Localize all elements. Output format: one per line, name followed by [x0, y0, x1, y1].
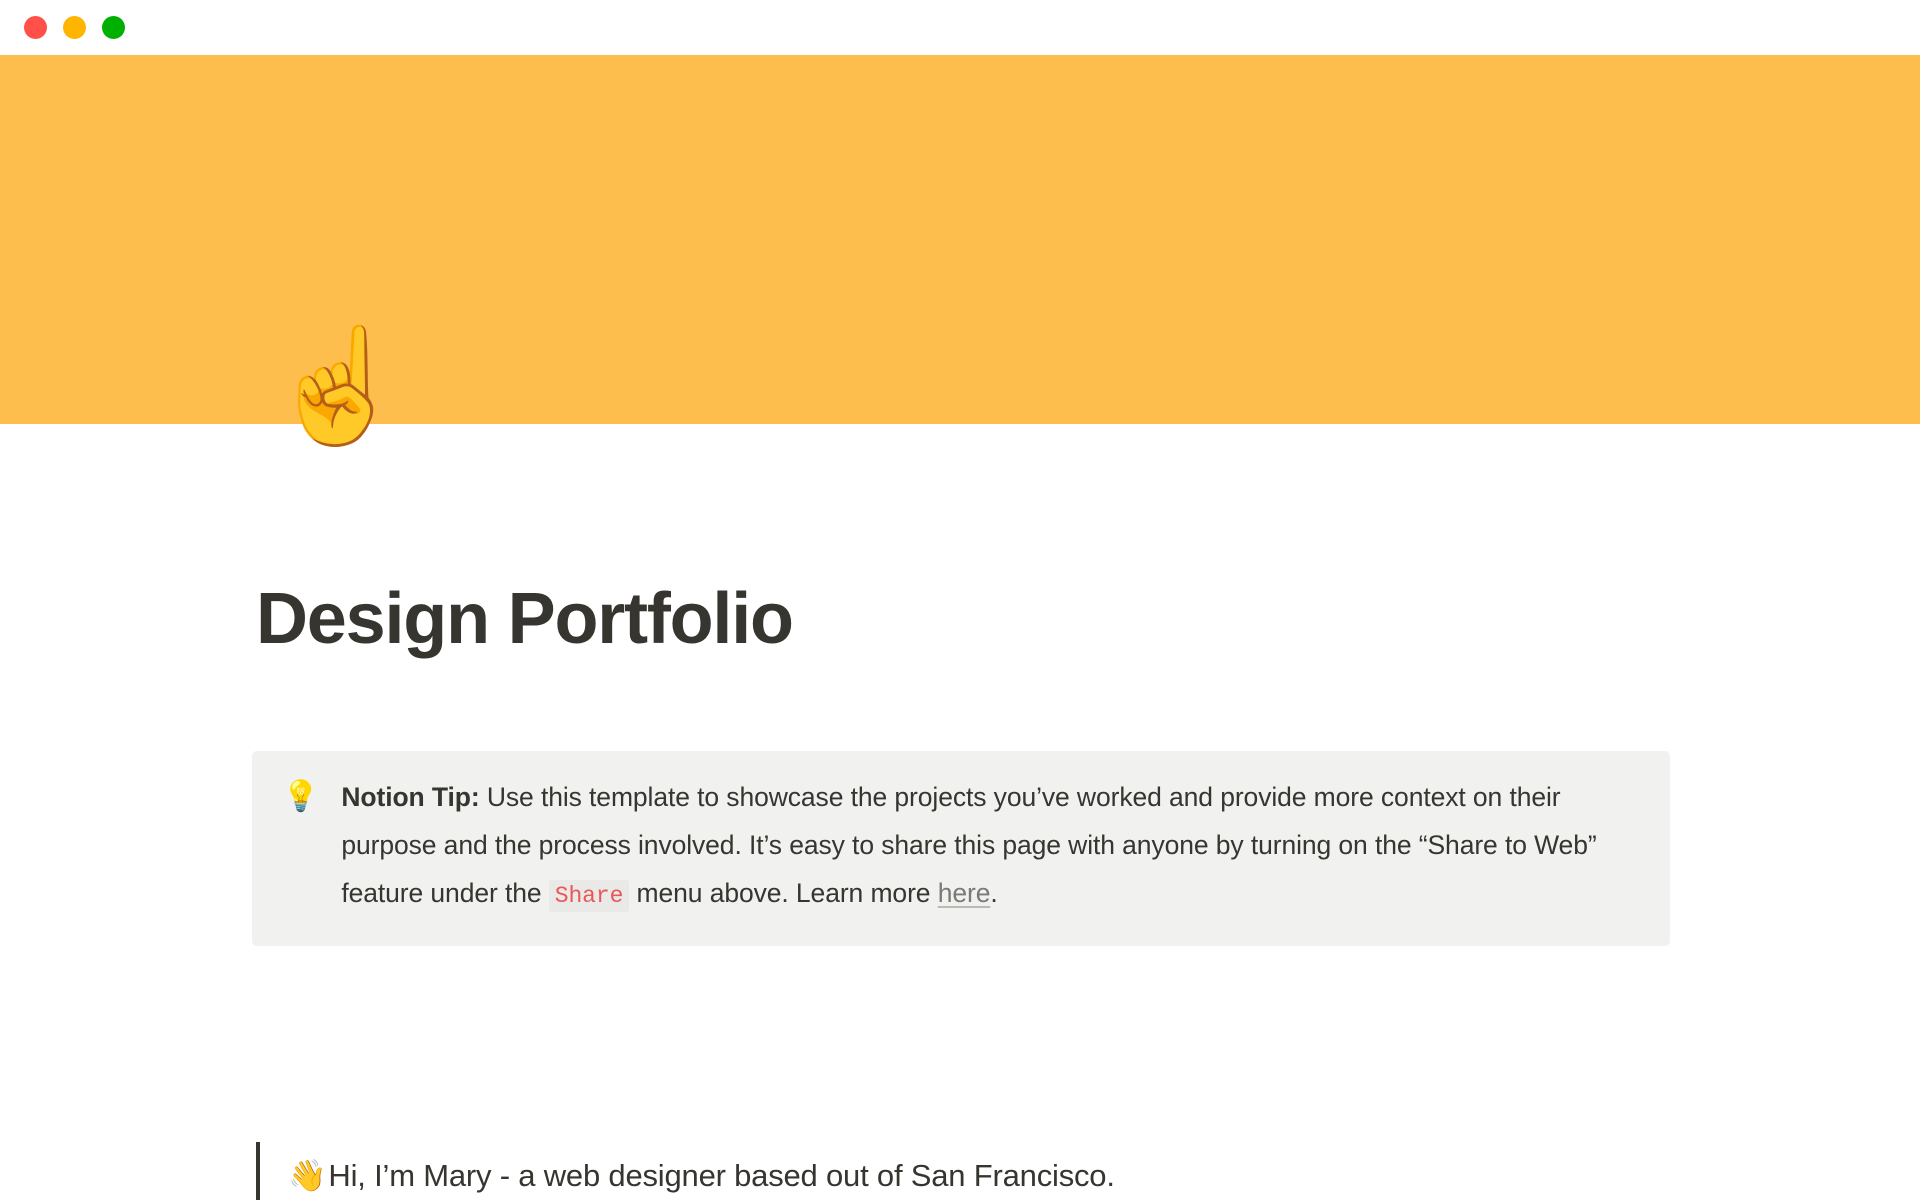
window-titlebar: [0, 0, 1920, 55]
callout-text-part-2: menu above. Learn more: [629, 878, 937, 908]
minimize-window-button[interactable]: [63, 16, 86, 39]
light-bulb-icon: 💡: [282, 773, 319, 821]
zoom-window-button[interactable]: [102, 16, 125, 39]
intro-blockquote[interactable]: 👋Hi, I’m Mary - a web designer based out…: [256, 1142, 1670, 1200]
waving-hand-icon: 👋: [288, 1158, 326, 1194]
intro-blockquote-text: 👋Hi, I’m Mary - a web designer based out…: [288, 1153, 1115, 1199]
index-pointing-up-icon[interactable]: ☝️: [268, 330, 407, 442]
page-content: ☝️ Design Portfolio 💡 Notion Tip: Use th…: [0, 55, 1920, 1200]
page-title[interactable]: Design Portfolio: [256, 580, 793, 659]
app-window: ☝️ Design Portfolio 💡 Notion Tip: Use th…: [0, 0, 1920, 1200]
callout-text: Notion Tip: Use this template to showcas…: [341, 773, 1640, 920]
traffic-light-group: [24, 16, 125, 39]
close-window-button[interactable]: [24, 16, 47, 39]
here-link[interactable]: here: [938, 878, 991, 908]
intro-sentence: Hi, I’m Mary - a web designer based out …: [328, 1158, 1114, 1193]
share-code-token: Share: [549, 880, 630, 912]
callout-text-part-3: .: [990, 878, 997, 908]
callout-block[interactable]: 💡 Notion Tip: Use this template to showc…: [252, 751, 1670, 946]
callout-label: Notion Tip:: [341, 782, 479, 812]
